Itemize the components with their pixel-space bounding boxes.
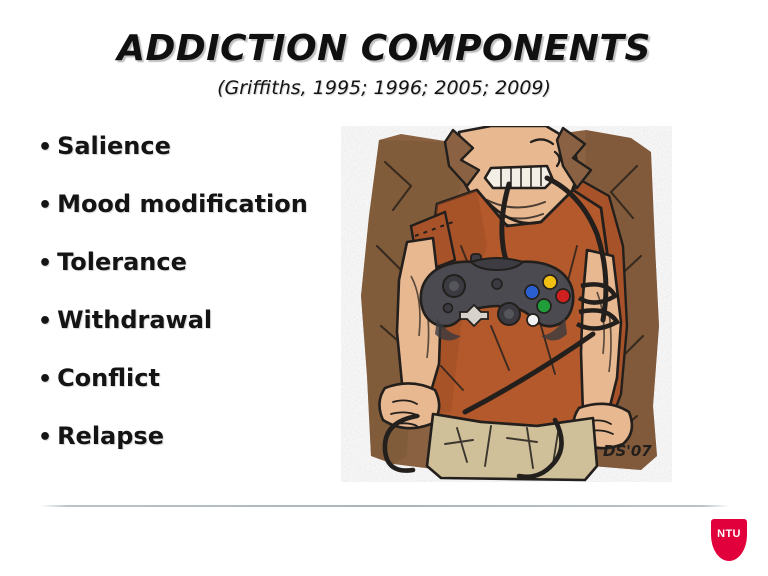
bullet-marker-icon: • (38, 253, 52, 275)
list-item: • Tolerance (38, 248, 338, 306)
shield-icon: NTU (711, 519, 747, 561)
list-item: • Relapse (38, 422, 338, 480)
slide-canvas: ADDICTION COMPONENTS (Griffiths, 1995; 1… (0, 0, 768, 576)
bullet-marker-icon: • (38, 137, 52, 159)
list-item: • Salience (38, 132, 338, 190)
list-item-label: Salience (57, 132, 171, 160)
list-item: • Mood modification (38, 190, 338, 248)
list-item-label: Withdrawal (57, 306, 212, 334)
ntu-logo-text: NTU (717, 529, 741, 540)
gamer-illustration: DS'07 (341, 126, 672, 482)
bullet-marker-icon: • (38, 427, 52, 449)
page-title: ADDICTION COMPONENTS (0, 30, 768, 68)
bullet-marker-icon: • (38, 369, 52, 391)
title-block: ADDICTION COMPONENTS (Griffiths, 1995; 1… (0, 30, 768, 99)
ntu-logo: NTU (711, 519, 747, 561)
list-item: • Conflict (38, 364, 338, 422)
list-item-label: Relapse (57, 422, 164, 450)
addiction-components-list: • Salience • Mood modification • Toleran… (38, 132, 338, 480)
artist-signature: DS'07 (603, 442, 652, 460)
bullet-marker-icon: • (38, 311, 52, 333)
page-subtitle-citation: (Griffiths, 1995; 1996; 2005; 2009) (0, 77, 768, 99)
footer-divider (40, 505, 730, 507)
bullet-marker-icon: • (38, 195, 52, 217)
list-item: • Withdrawal (38, 306, 338, 364)
list-item-label: Mood modification (57, 190, 308, 218)
list-item-label: Conflict (57, 364, 160, 392)
list-item-label: Tolerance (57, 248, 187, 276)
